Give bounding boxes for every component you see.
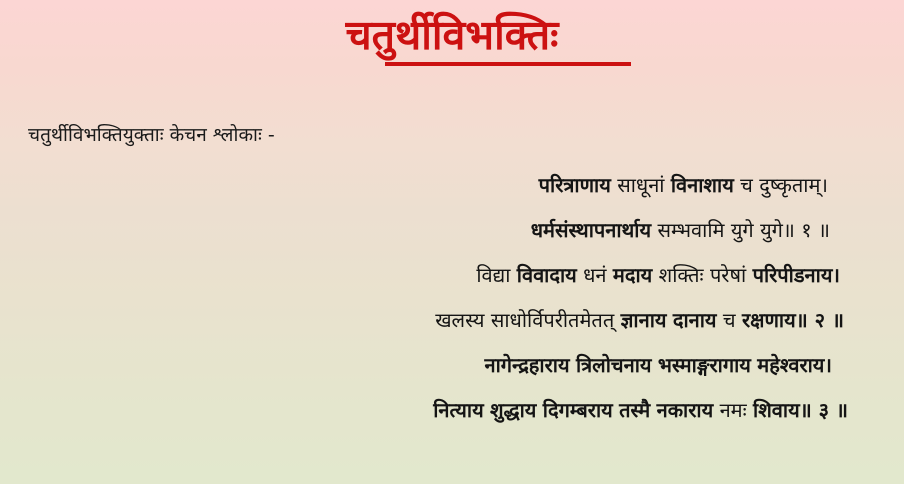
- verse-word: नागेन्द्रहाराय: [484, 353, 569, 377]
- verse-word: विद्या: [476, 263, 510, 287]
- verse-word: तस्मै: [619, 398, 650, 422]
- verse-word: सम्भवामि: [657, 218, 724, 242]
- verse-word: च: [723, 308, 736, 332]
- verse-2-line-1: विद्या विवादाय धनं मदाय शक्तिः परेषां पर…: [0, 253, 856, 298]
- verse-3-line-2: नित्याय शुद्धाय दिगम्बराय तस्मै नकाराय न…: [0, 388, 856, 433]
- verse-word: भस्माङ्गरागाय: [658, 353, 751, 377]
- verse-word: शुद्धाय: [490, 398, 536, 422]
- verse-word: दुष्कृताम्।: [759, 173, 828, 197]
- verse-word: रक्षणाय॥ २ ॥: [742, 308, 844, 332]
- verse-word: शक्तिः: [659, 263, 704, 287]
- verse-word: विनाशाय: [671, 173, 734, 197]
- verse-1-line-1: परित्राणाय साधूनां विनाशाय च दुष्कृताम्।: [0, 163, 856, 208]
- verse-word: नित्याय: [433, 398, 483, 422]
- verse-word: परेषां: [710, 263, 746, 287]
- verse-word: ज्ञानाय: [621, 308, 667, 332]
- verse-word: त्रिलोचनाय: [576, 353, 652, 377]
- verse-word: च: [740, 173, 753, 197]
- verse-word: युगे: [731, 218, 754, 242]
- subtitle-text: चतुर्थीविभक्तियुक्ताः केचन श्लोकाः -: [28, 122, 275, 148]
- verse-word: परित्राणाय: [539, 173, 611, 197]
- page-title: चतुर्थीविभक्तिः: [346, 8, 559, 62]
- verse-word: दानाय: [673, 308, 717, 332]
- verse-2-line-2: खलस्य साधोर्विपरीतमेतत् ज्ञानाय दानाय च …: [0, 298, 856, 343]
- title-block: चतुर्थीविभक्तिः: [0, 8, 904, 62]
- verse-word: युगे॥ १ ॥: [760, 218, 830, 242]
- verse-word: धर्मसंस्थापनार्थाय: [531, 218, 651, 242]
- verse-word: शिवाय॥ ३ ॥: [753, 398, 848, 422]
- verse-list: परित्राणाय साधूनां विनाशाय च दुष्कृताम्।…: [0, 163, 880, 433]
- verse-word: दिगम्बराय: [543, 398, 613, 422]
- title-underline: [385, 62, 631, 66]
- verse-word: खलस्य: [435, 308, 484, 332]
- verse-word: साधोर्विपरीतमेतत्: [491, 308, 614, 332]
- verse-3-line-1: नागेन्द्रहाराय त्रिलोचनाय भस्माङ्गरागाय …: [0, 343, 856, 388]
- verse-word: विवादाय: [517, 263, 577, 287]
- verse-word: महेश्वराय।: [757, 353, 832, 377]
- verse-word: नकाराय: [657, 398, 714, 422]
- verse-word: परिपीडनाय।: [753, 263, 840, 287]
- verse-word: नमः: [720, 398, 747, 422]
- verse-word: साधूनां: [617, 173, 664, 197]
- verse-1-line-2: धर्मसंस्थापनार्थाय सम्भवामि युगे युगे॥ १…: [0, 208, 856, 253]
- verse-word: मदाय: [613, 263, 652, 287]
- verse-word: धनं: [583, 263, 606, 287]
- slide-canvas: चतुर्थीविभक्तिः चतुर्थीविभक्तियुक्ताः के…: [0, 0, 904, 484]
